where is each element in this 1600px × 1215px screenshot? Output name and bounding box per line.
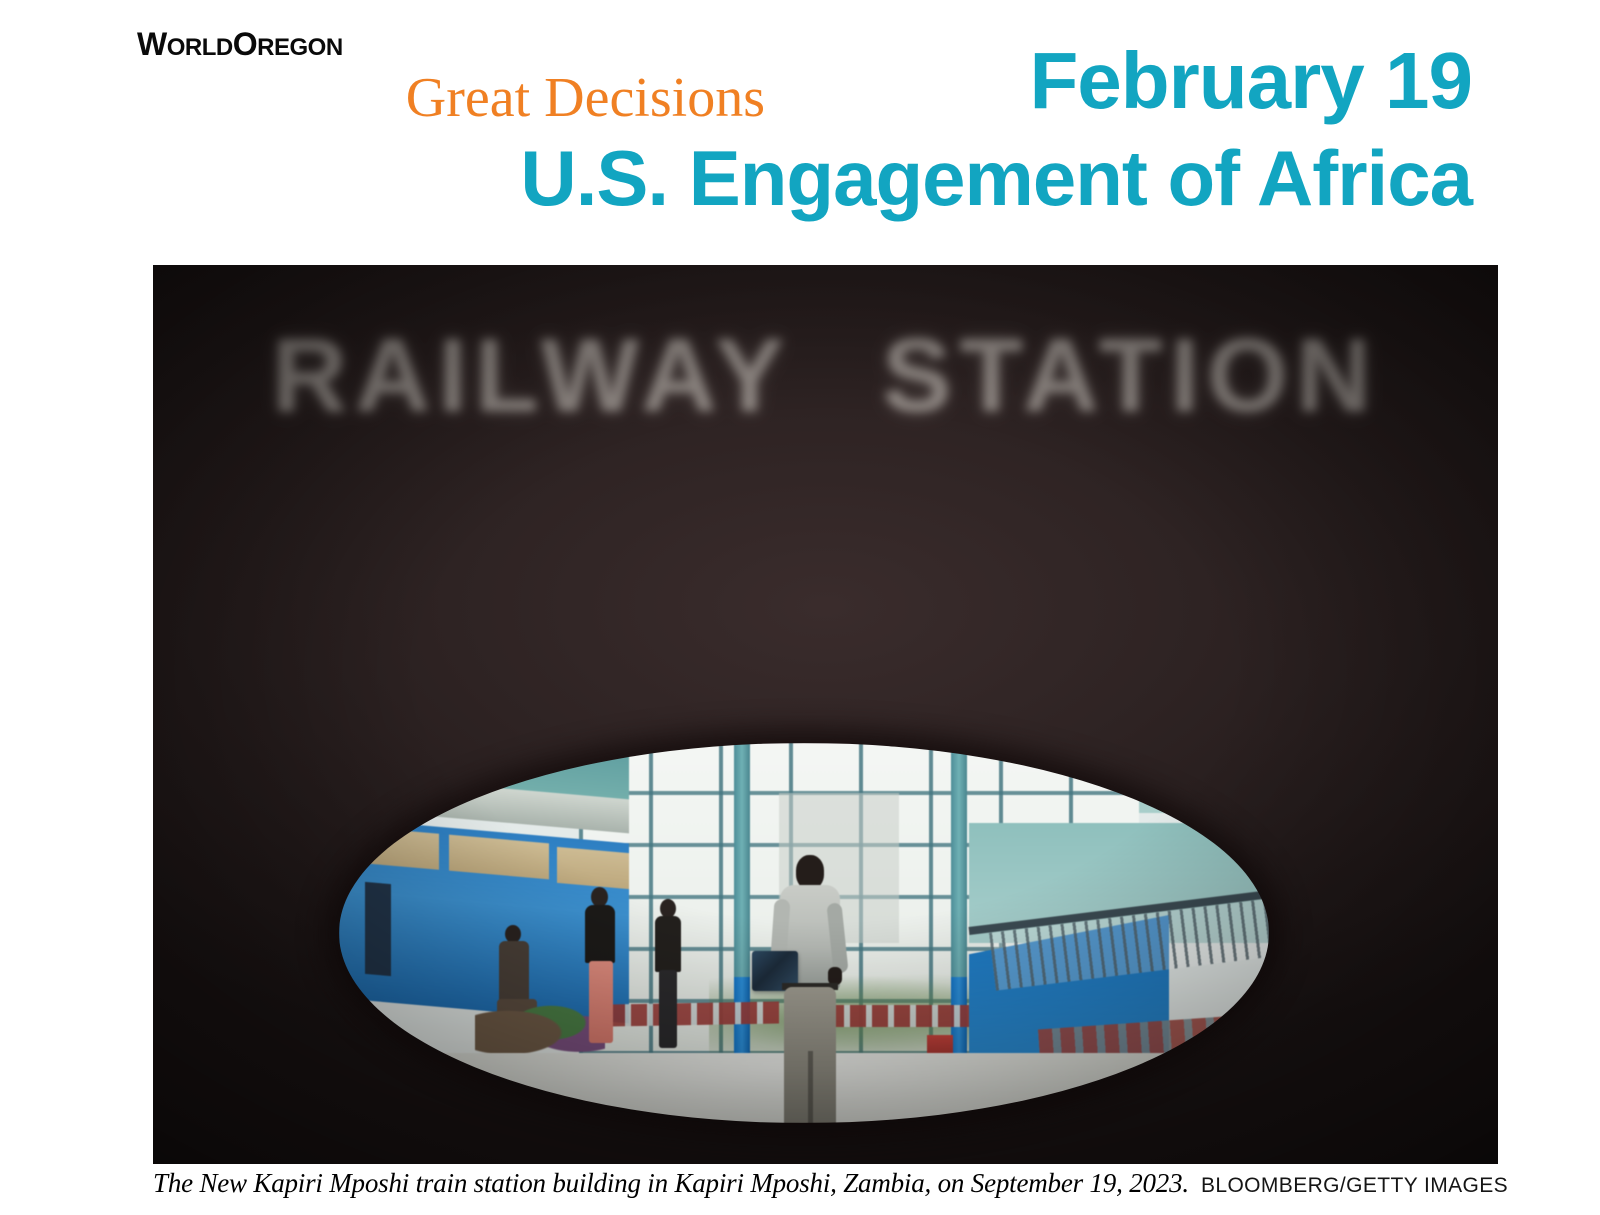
hanging-sign-board [345, 749, 367, 807]
slide-header: WORLDOREGON Great Decisions February 19 … [0, 0, 1600, 250]
man-leg-gap [808, 1051, 813, 1123]
sign-word-station: STATION [882, 318, 1379, 434]
photo-caption: The New Kapiri Mposhi train station buil… [153, 1168, 1498, 1199]
seating-row [609, 1002, 779, 1027]
sign-word-railway: RAILWAY [272, 318, 792, 434]
traveller-body [655, 916, 681, 972]
walking-man [766, 855, 852, 1123]
standing-traveller [651, 899, 685, 1049]
page-title: U.S. Engagement of Africa [520, 136, 1472, 220]
doorway [365, 882, 391, 976]
oval-aperture [339, 743, 1269, 1123]
traveller-body [585, 905, 615, 963]
concourse-scene [339, 743, 1269, 1123]
session-date: February 19 [1029, 40, 1472, 122]
wall-panel [557, 847, 629, 889]
standing-traveller [579, 887, 621, 1047]
brand-lockup: WORLDOREGON Great Decisions [137, 16, 797, 127]
organization-name: WORLDOREGON [137, 16, 797, 67]
traveller-legs [589, 961, 613, 1043]
traveller-legs [659, 970, 677, 1048]
railway-station-sign: RAILWAYSTATION [153, 317, 1498, 436]
traveller-head [591, 887, 608, 907]
feature-photo: RAILWAYSTATION [153, 265, 1498, 1164]
program-name: Great Decisions [137, 69, 797, 127]
right-seating-bank [969, 823, 1269, 1083]
man-head [796, 855, 824, 889]
caption-description: The New Kapiri Mposhi train station buil… [153, 1168, 1189, 1198]
caption-credit: BLOOMBERG/GETTY IMAGES [1201, 1174, 1508, 1197]
station-concourse [339, 743, 1269, 1123]
